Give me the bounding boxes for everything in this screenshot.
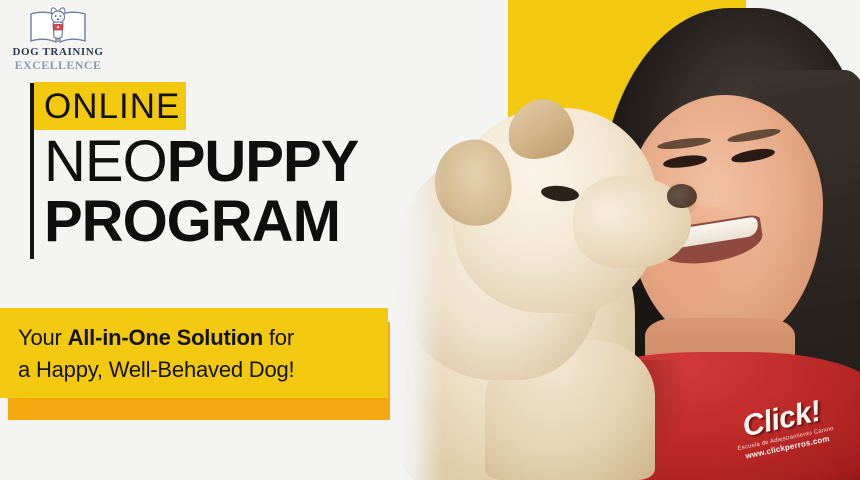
hero-photo: Click! Escuela de Adiestramiento Canino … (395, 0, 860, 480)
title-line-1: NEOPUPPY (44, 134, 444, 190)
puppy-nose (667, 184, 697, 208)
subtitle-prefix: Your (18, 325, 68, 350)
online-badge: ONLINE (34, 82, 186, 130)
brand-name-line1: DOG TRAINING (8, 46, 108, 59)
brand-name-line2: EXCELLENCE (8, 59, 108, 72)
title-puppy: PUPPY (167, 129, 359, 194)
subtitle-line-2: a Happy, Well-Behaved Dog! (18, 354, 370, 386)
subtitle-line-1: Your All-in-One Solution for (18, 322, 370, 354)
subtitle-highlight: All-in-One Solution (68, 325, 263, 350)
title-line-2: PROGRAM (44, 194, 444, 250)
promo-banner: Click! Escuela de Adiestramiento Canino … (0, 0, 860, 480)
subtitle-banner: Your All-in-One Solution for a Happy, We… (0, 308, 388, 398)
brand-logo[interactable]: DOG TRAINING EXCELLENCE (8, 6, 108, 72)
subtitle-suffix: for (263, 325, 294, 350)
online-badge-label: ONLINE (44, 89, 180, 124)
page-title: NEOPUPPY PROGRAM (44, 134, 444, 249)
title-neo: NEO (44, 129, 167, 194)
dog-and-book-icon (27, 6, 89, 46)
